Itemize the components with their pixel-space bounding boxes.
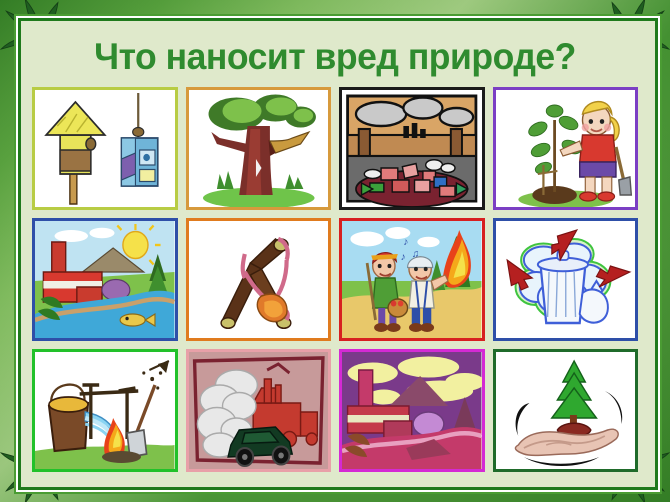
picture-card-extinguish-fire[interactable] [32, 349, 178, 472]
picture-card-river-pollution[interactable] [32, 218, 178, 341]
picture-card-factory-garbage[interactable] [339, 87, 485, 210]
picture-card-air-pollution[interactable] [339, 349, 485, 472]
picture-card-trash-bin[interactable] [493, 218, 639, 341]
picture-card-broken-branch[interactable] [186, 87, 332, 210]
slide: Что наносит вред природе? [0, 0, 670, 502]
picture-card-forest-fire[interactable]: ♪♫♪ [339, 218, 485, 341]
picture-grid: ♪♫♪ [18, 85, 652, 484]
page-title: Что наносит вред природе? [31, 18, 640, 85]
svg-text:♪: ♪ [403, 237, 408, 248]
picture-card-protect-tree[interactable] [493, 349, 639, 472]
svg-text:♫: ♫ [412, 249, 419, 260]
picture-card-car-exhaust[interactable] [186, 349, 332, 472]
picture-card-slingshot[interactable] [186, 218, 332, 341]
picture-card-birdhouse[interactable] [32, 87, 178, 210]
svg-text:♪: ♪ [401, 252, 406, 263]
slide-board: Что наносит вред природе? [18, 18, 652, 484]
picture-card-planting-tree[interactable] [493, 87, 639, 210]
